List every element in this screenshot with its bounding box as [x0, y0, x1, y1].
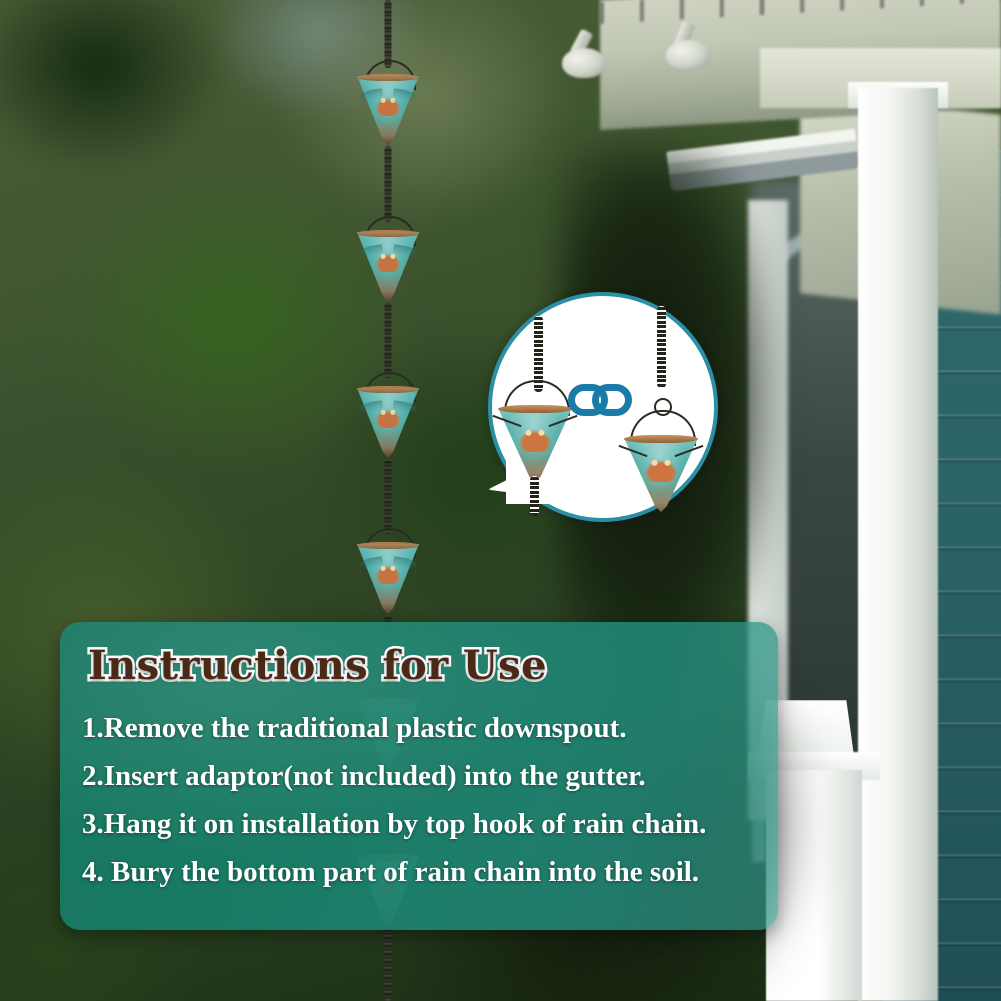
rain-chain-cup [357, 218, 419, 302]
callout-cup-upper [498, 386, 572, 482]
rain-chain-cup [357, 374, 419, 458]
spotlight-left [562, 48, 606, 78]
spotlight-right [666, 40, 710, 70]
cup-rim [357, 74, 419, 81]
chain-segment [385, 146, 392, 222]
product-marketing-image: Instructions for Use 1.Remove the tradit… [0, 0, 1001, 1001]
instruction-step: 3.Hang it on installation by top hook of… [82, 800, 768, 848]
bee-motif-icon [373, 564, 403, 584]
panel-title: Instructions for Use [88, 642, 547, 689]
bee-motif-icon [642, 458, 680, 482]
cup-rim [498, 405, 572, 413]
instruction-step: 4. Bury the bottom part of rain chain in… [82, 848, 768, 896]
connection-detail-callout [484, 288, 714, 528]
bee-motif-icon [373, 252, 403, 272]
bee-motif-icon [373, 96, 403, 116]
callout-chain-left-lower [530, 476, 539, 516]
cup-rim [357, 386, 419, 393]
cup-rim [357, 542, 419, 549]
instruction-step: 1.Remove the traditional plastic downspo… [82, 704, 768, 752]
bee-motif-icon [516, 428, 554, 452]
rain-chain-cup [357, 530, 419, 614]
chain-segment [385, 926, 392, 1001]
bee-motif-icon [373, 408, 403, 428]
cup-rim [624, 435, 698, 443]
callout-chain-right [657, 306, 666, 388]
chain-segment [385, 302, 392, 378]
chain-segment [385, 458, 392, 534]
chain-link-icon-ring-2 [592, 384, 632, 416]
rain-chain-cup [357, 62, 419, 146]
chain-link-icon [568, 384, 632, 418]
chain-segment [385, 0, 392, 68]
porch-column-main [858, 88, 938, 1001]
cup-rim [357, 230, 419, 237]
instructions-panel: Instructions for Use 1.Remove the tradit… [60, 622, 778, 930]
callout-cup-lower [624, 416, 698, 512]
instruction-steps-list: 1.Remove the traditional plastic downspo… [82, 704, 768, 896]
instruction-step: 2.Insert adaptor(not included) into the … [82, 752, 768, 800]
